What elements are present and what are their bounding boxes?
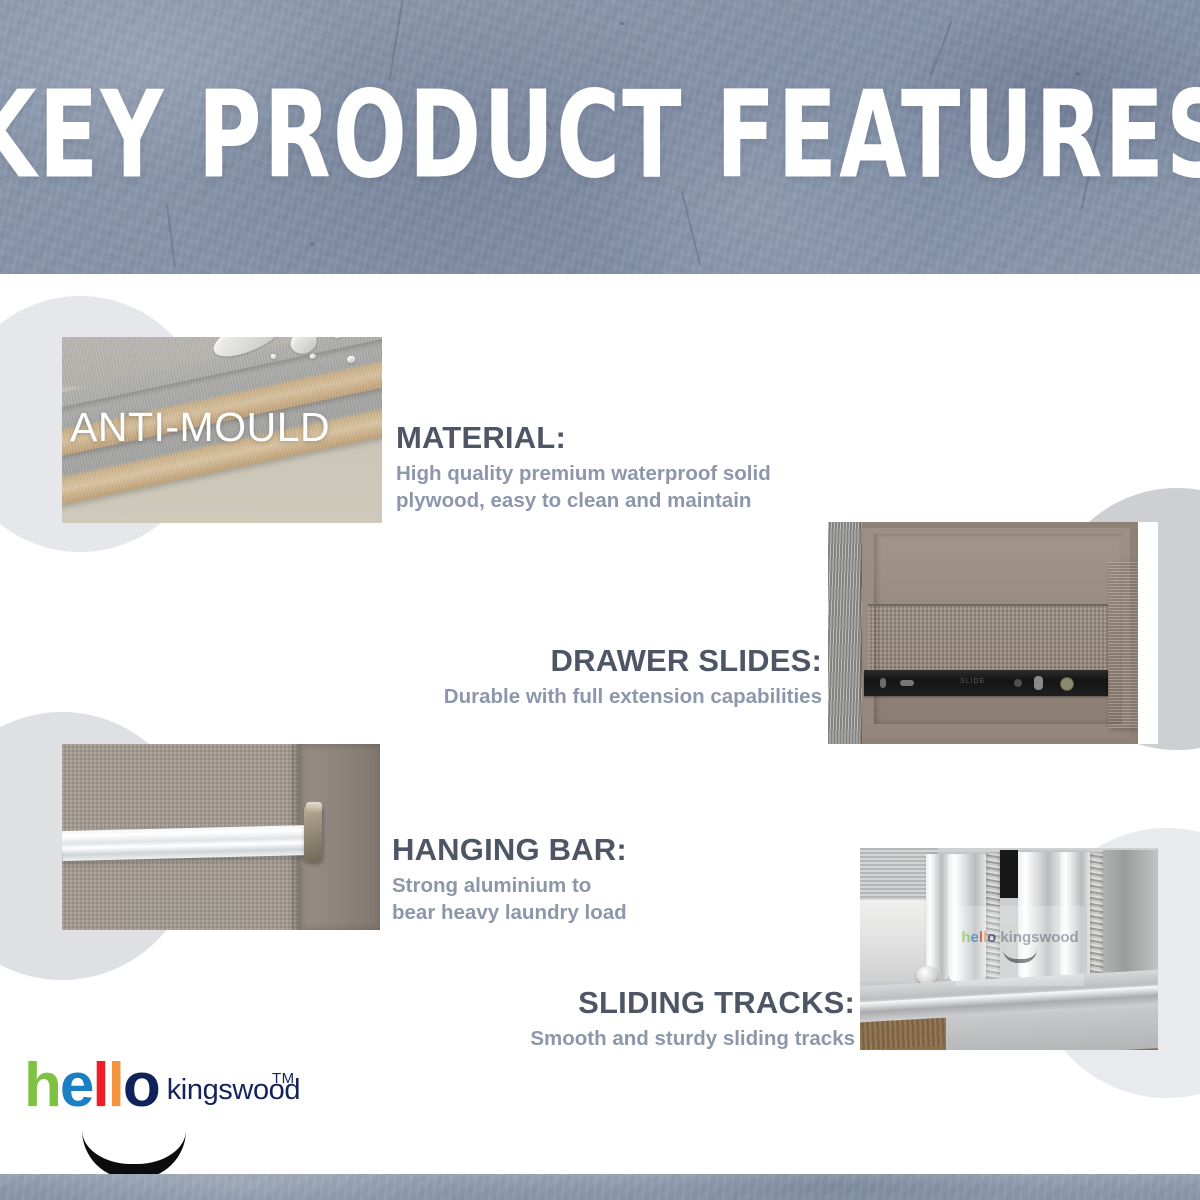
feature-material-title: MATERIAL: bbox=[396, 420, 866, 457]
photo-white-cutout bbox=[1138, 522, 1158, 744]
feature-drawer-slides-title: DRAWER SLIDES: bbox=[310, 643, 822, 680]
page-title: KEY PRODUCT FEATURES bbox=[0, 0, 1200, 312]
anti-mould-overlay-label: ANTI-MOULD bbox=[70, 404, 380, 451]
drawer-slide-rail: SLIDE bbox=[864, 670, 1108, 696]
feature-sliding-tracks-description: Smooth and sturdy sliding tracks bbox=[400, 1025, 855, 1052]
feature-hanging-bar-description: Strong aluminium to bear heavy laundry l… bbox=[392, 872, 822, 926]
drawer-front-panel bbox=[1108, 562, 1138, 728]
feature-drawer-slides: DRAWER SLIDES: Durable with full extensi… bbox=[310, 643, 822, 710]
key-product-features-poster: KEY PRODUCT FEATURES ANTI-MOULD MATERIAL… bbox=[0, 0, 1200, 1200]
hello-kingswood-logo: h e l l o kingswood TM bbox=[24, 1062, 304, 1166]
feature-material: MATERIAL: High quality premium waterproo… bbox=[396, 420, 866, 514]
footer-banner bbox=[0, 1174, 1200, 1200]
logo-smile-icon bbox=[82, 1130, 186, 1179]
drawer-box bbox=[868, 604, 1108, 674]
hanging-bar-photo bbox=[62, 744, 380, 930]
hanging-bar-bracket bbox=[304, 806, 322, 862]
aluminium-hanging-bar bbox=[62, 825, 312, 861]
logo-letter-o: o bbox=[123, 1062, 159, 1110]
footer-texture bbox=[0, 1174, 1200, 1200]
feature-material-description: High quality premium waterproof solid pl… bbox=[396, 460, 866, 514]
cabinet-interior bbox=[1103, 850, 1158, 982]
logo-letter-h: h bbox=[24, 1062, 60, 1110]
door-brush-seal bbox=[1090, 852, 1103, 980]
logo-letter-l-red: l bbox=[92, 1062, 107, 1110]
cabinet-side-panel bbox=[828, 522, 862, 744]
logo-letter-e: e bbox=[60, 1062, 92, 1110]
watermark-wordmark: kingswood bbox=[1000, 930, 1078, 945]
trademark-symbol: TM bbox=[272, 1070, 295, 1087]
feature-drawer-slides-description: Durable with full extension capabilities bbox=[310, 683, 822, 710]
sliding-door-panel bbox=[926, 854, 948, 979]
drawer-slides-photo: SLIDE bbox=[828, 522, 1158, 744]
feature-hanging-bar-title: HANGING BAR: bbox=[392, 832, 822, 869]
feature-sliding-tracks: SLIDING TRACKS: Smooth and sturdy slidin… bbox=[400, 985, 855, 1052]
feature-hanging-bar: HANGING BAR: Strong aluminium to bear he… bbox=[392, 832, 822, 926]
watermark-smile-icon bbox=[1003, 949, 1037, 963]
logo-letter-l-orange: l bbox=[108, 1062, 123, 1110]
sliding-tracks-photo: hello kingswood bbox=[860, 848, 1158, 1050]
photo-watermark: hello kingswood bbox=[956, 906, 1084, 986]
feature-sliding-tracks-title: SLIDING TRACKS: bbox=[400, 985, 855, 1022]
door-gap-shadow bbox=[1000, 850, 1018, 898]
hanging-bar-bracket-top bbox=[306, 802, 322, 812]
